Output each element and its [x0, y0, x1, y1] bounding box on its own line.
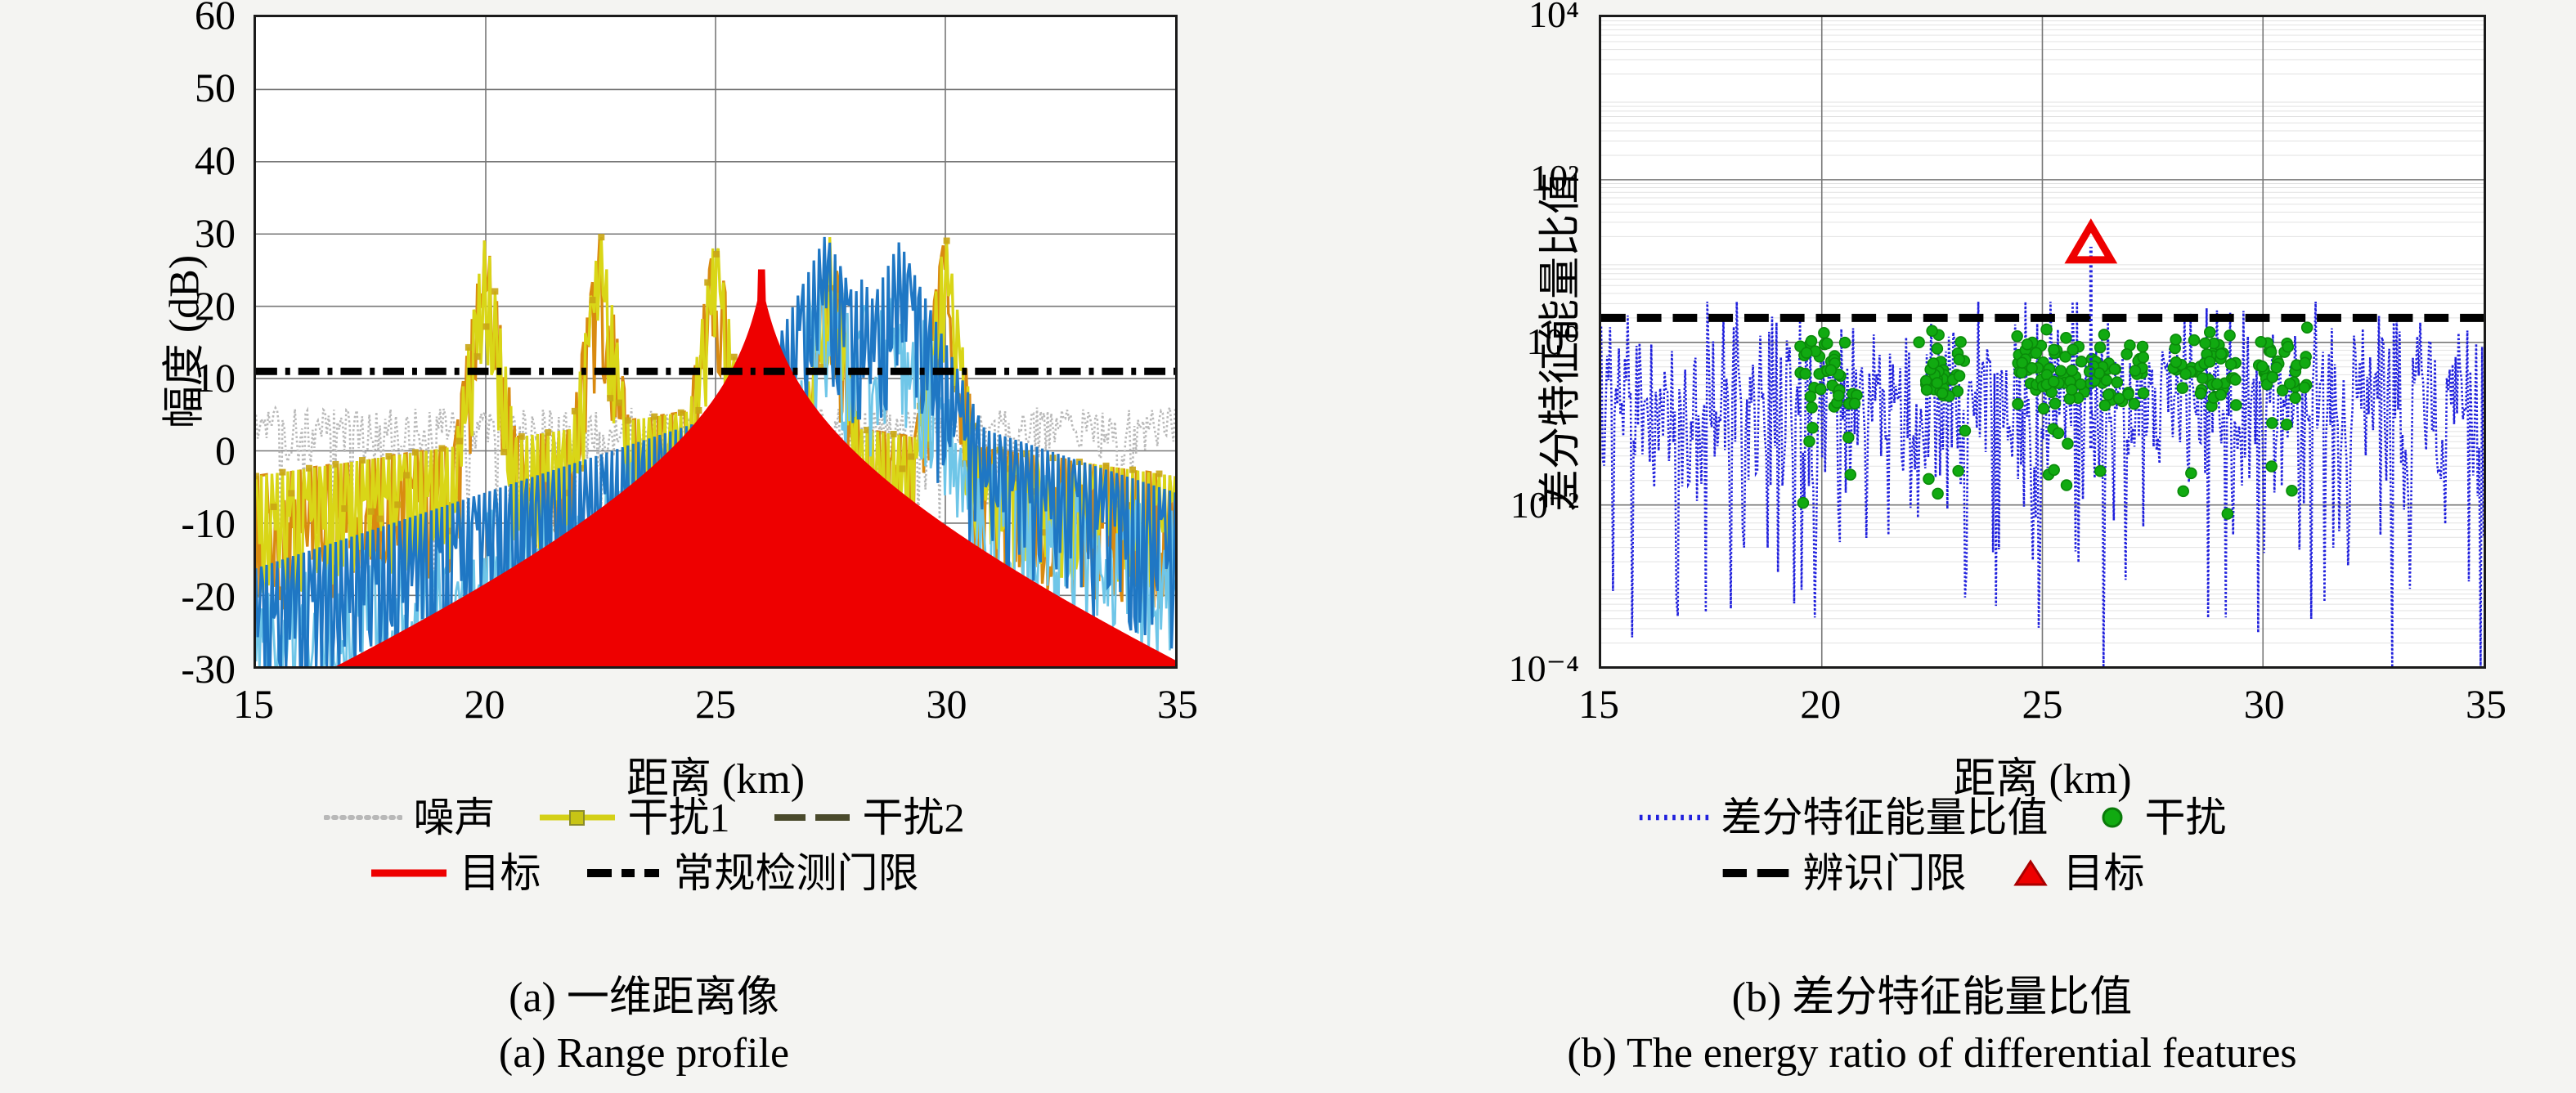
dashed-black-line-icon	[1720, 857, 1792, 889]
legend-item-interference-2[interactable]: 干扰2	[773, 797, 965, 838]
ytick-a-0: 60	[195, 0, 236, 35]
ytick-a-6: 0	[215, 430, 236, 471]
ytick-b-0: 10⁴	[1528, 0, 1579, 34]
plot-area-a: 60 50 40 30 20 10 0 -10 -20 -30 15 20 25…	[254, 15, 1178, 669]
legend-item-energy-ratio[interactable]: 差分特征能量比值	[1638, 797, 2049, 838]
ytick-a-9: -30	[181, 648, 236, 689]
dashed-olive-line-icon	[773, 801, 851, 834]
ytick-a-3: 30	[195, 213, 236, 253]
caption-b-en: (b) The energy ratio of differential fea…	[1288, 1028, 2576, 1078]
red-triangle-marker-icon	[2009, 857, 2052, 889]
xtick-a-2: 25	[695, 683, 736, 724]
legend-item-target-a[interactable]: 目标	[370, 853, 541, 894]
legend-label-identification-threshold: 辨识门限	[1803, 853, 1967, 894]
legend-label-interference-b: 干扰	[2145, 797, 2227, 838]
legend-label-noise: 噪声	[414, 797, 496, 838]
ytick-b-4: 10⁻⁴	[1509, 650, 1579, 688]
dashdot-black-line-icon	[584, 857, 662, 889]
legend-b-row-2: 辨识门限 目标	[1699, 853, 2166, 894]
xtick-b-4: 35	[2466, 683, 2506, 724]
dotted-grey-line-icon	[324, 801, 402, 834]
xtick-b-1: 20	[1800, 683, 1841, 724]
legend-label-detection-threshold: 常规检测门限	[674, 853, 919, 894]
xtick-a-0: 15	[233, 683, 274, 724]
legend-item-detection-threshold[interactable]: 常规检测门限	[584, 853, 919, 894]
green-circle-marker-icon	[2091, 801, 2134, 834]
panel-energy-ratio: 10⁴ 10² 10⁰ 10⁻² 10⁻⁴ 15 20 25 30 35 距离 …	[1288, 0, 2576, 1093]
ytick-a-1: 50	[195, 67, 236, 108]
dotted-blue-line-icon	[1638, 801, 1710, 834]
legend-item-interference-b[interactable]: 干扰	[2091, 797, 2227, 838]
range-profile-chart	[256, 17, 1175, 668]
energy-ratio-chart	[1601, 17, 2484, 668]
legend-b-row-1: 差分特征能量比值 干扰	[1617, 797, 2248, 838]
legend-a-row-1: 噪声 干扰1 干扰2	[303, 797, 986, 838]
xtick-a-3: 30	[927, 683, 967, 724]
legend-item-identification-threshold[interactable]: 辨识门限	[1720, 853, 1967, 894]
legend-b: 差分特征能量比值 干扰 辨识门限	[1288, 797, 2576, 894]
yaxis-label-b: 差分特征能量比值	[1526, 172, 1587, 512]
caption-b-cn: (b) 差分特征能量比值	[1288, 973, 2576, 1023]
legend-a: 噪声 干扰1 干扰2	[0, 797, 1288, 894]
legend-label-energy-ratio: 差分特征能量比值	[1721, 797, 2049, 838]
yaxis-label-a: 幅度 (dB)	[150, 255, 211, 428]
xtick-b-3: 30	[2244, 683, 2285, 724]
xtick-a-4: 35	[1157, 683, 1198, 724]
axes-frame-a	[254, 15, 1178, 669]
caption-a-en: (a) Range profile	[0, 1028, 1288, 1078]
legend-label-interference-1: 干扰1	[628, 797, 730, 838]
ytick-a-2: 40	[195, 140, 236, 181]
panel-range-profile: 60 50 40 30 20 10 0 -10 -20 -30 15 20 25…	[0, 0, 1288, 1093]
axes-frame-b	[1599, 15, 2486, 669]
xtick-a-1: 20	[464, 683, 505, 724]
legend-a-row-2: 目标 常规检测门限	[348, 853, 940, 894]
marked-yellow-line-icon	[538, 801, 617, 834]
solid-red-line-icon	[370, 857, 448, 889]
legend-label-interference-2: 干扰2	[863, 797, 965, 838]
legend-label-target-b: 目标	[2063, 853, 2145, 894]
xtick-b-2: 25	[2022, 683, 2063, 724]
legend-item-noise[interactable]: 噪声	[324, 797, 496, 838]
legend-label-target-a: 目标	[460, 853, 541, 894]
plot-area-b: 10⁴ 10² 10⁰ 10⁻² 10⁻⁴ 15 20 25 30 35 距离 …	[1599, 15, 2486, 669]
caption-a-cn: (a) 一维距离像	[0, 973, 1288, 1023]
ytick-a-7: -10	[181, 503, 236, 544]
legend-item-interference-1[interactable]: 干扰1	[538, 797, 730, 838]
figure-root: 60 50 40 30 20 10 0 -10 -20 -30 15 20 25…	[0, 0, 2576, 1093]
xtick-b-0: 15	[1578, 683, 1619, 724]
legend-item-target-b[interactable]: 目标	[2009, 853, 2145, 894]
ytick-a-8: -20	[181, 576, 236, 616]
